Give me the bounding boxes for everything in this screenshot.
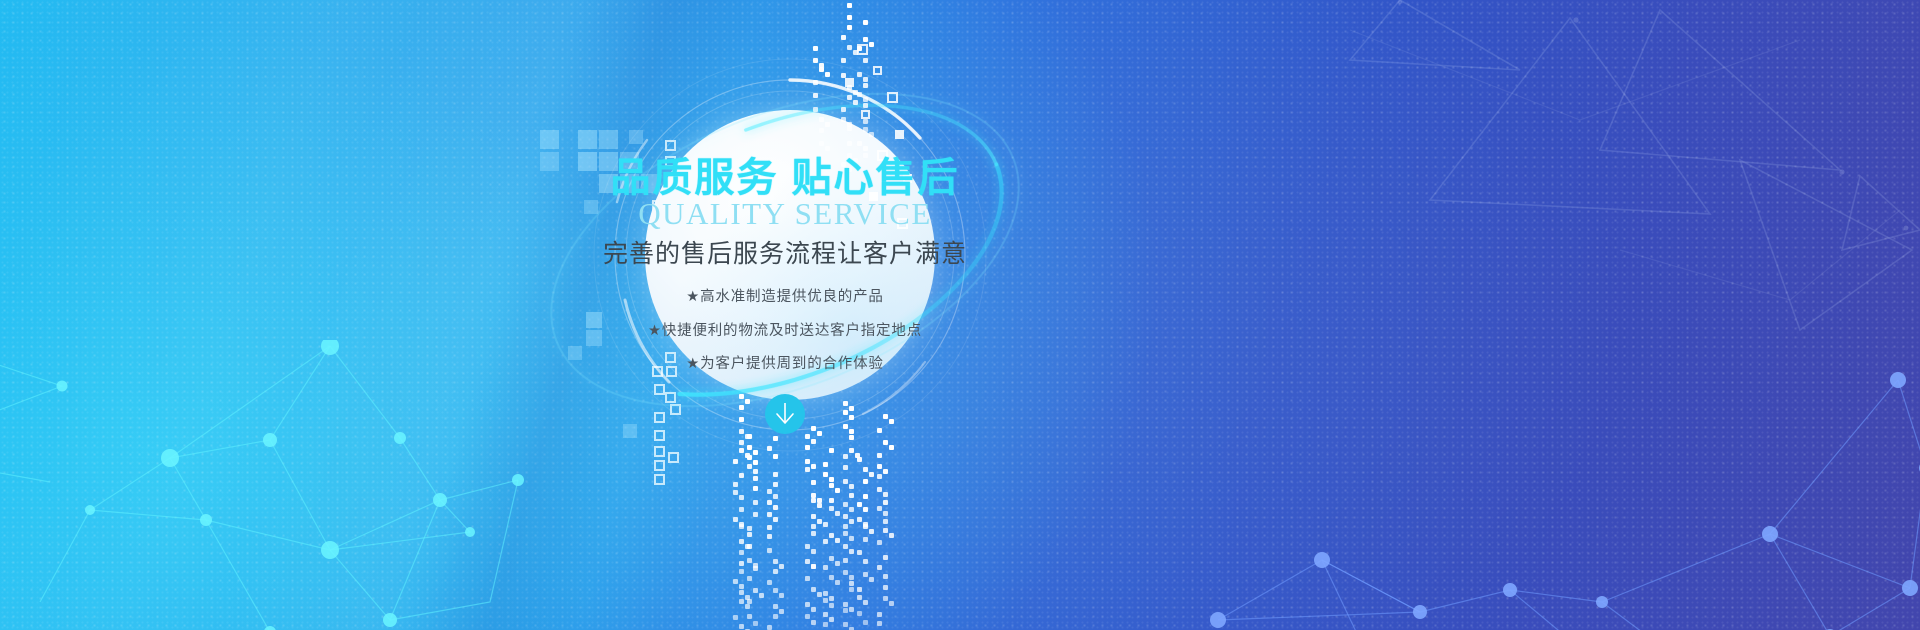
- headline-english: QUALITY SERVICE: [505, 198, 1065, 229]
- arrow-down-icon: [774, 401, 796, 427]
- feature-bullet: ★快捷便利的物流及时送达客户指定地点: [505, 324, 1065, 339]
- subtitle: 完善的售后服务流程让客户满意: [505, 242, 1065, 267]
- network-graph-right: [1210, 350, 1920, 630]
- scroll-down-button[interactable]: [765, 394, 805, 434]
- feature-bullet: ★为客户提供周到的合作体验: [505, 357, 1065, 372]
- service-banner: 品质服务 贴心售后 QUALITY SERVICE 完善的售后服务流程让客户满意…: [0, 0, 1920, 630]
- hero-text-stack: 品质服务 贴心售后 QUALITY SERVICE 完善的售后服务流程让客户满意…: [505, 0, 1065, 530]
- headline-chinese: 品质服务 贴心售后: [505, 158, 1065, 198]
- feature-bullet: ★高水准制造提供优良的产品: [505, 290, 1065, 305]
- feature-bullet-list: ★高水准制造提供优良的产品★快捷便利的物流及时送达客户指定地点★为客户提供周到的…: [505, 290, 1065, 391]
